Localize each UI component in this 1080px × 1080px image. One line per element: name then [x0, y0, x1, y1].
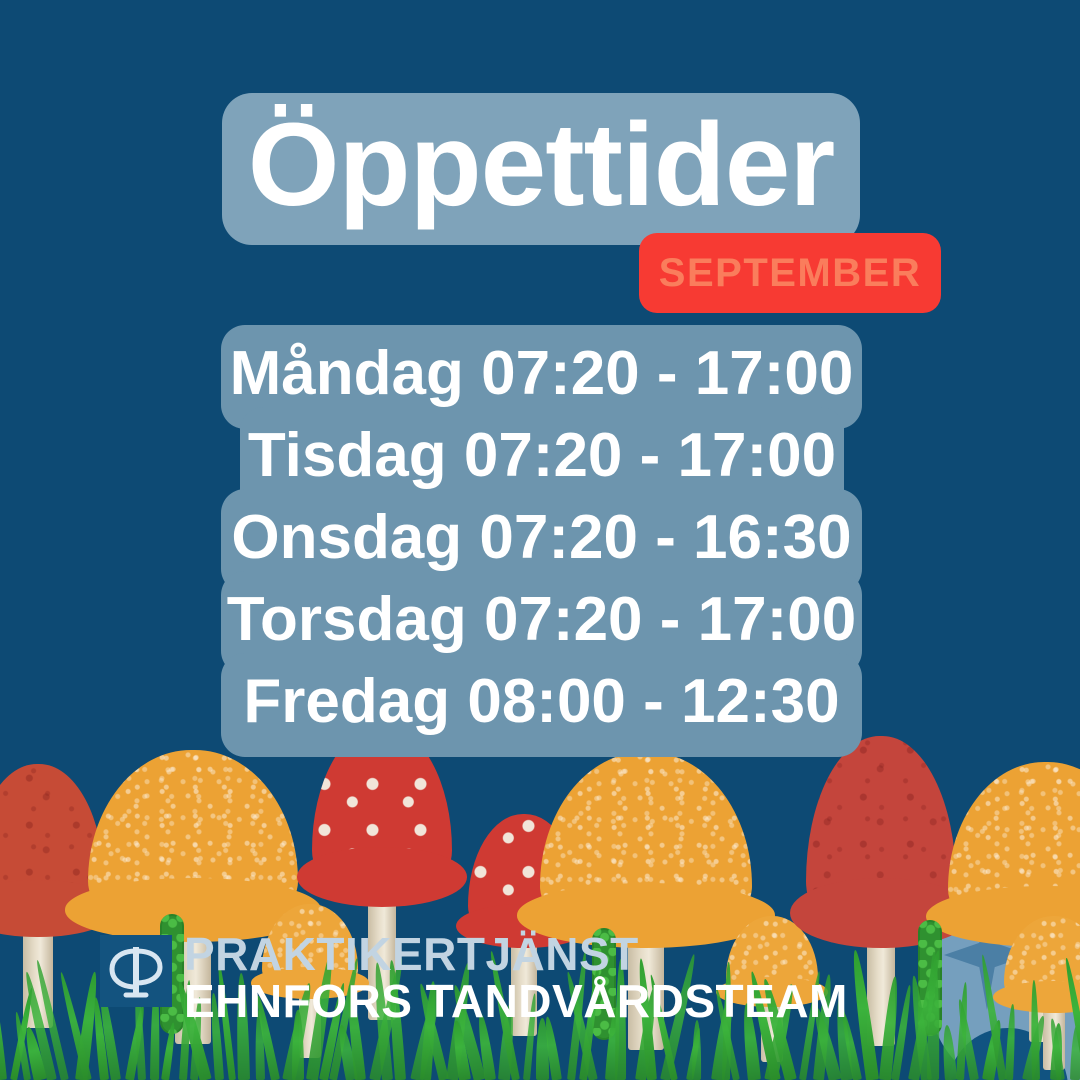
page-title: Öppettider	[248, 106, 835, 224]
month-badge: SEPTEMBER	[639, 233, 941, 313]
hours-row-text: Fredag 08:00 - 12:30	[243, 671, 839, 733]
mushroom-cap-speckle	[540, 752, 752, 942]
grass-blade	[1005, 1004, 1016, 1080]
grass-blade	[161, 1022, 177, 1080]
hours-row-text: Måndag 07:20 - 17:00	[230, 343, 854, 405]
logo-clinic-name: EHNFORS TANDVÅRDSTEAM	[184, 977, 848, 1025]
title-panel: Öppettider	[222, 93, 860, 245]
opening-hours-panel: Måndag 07:20 - 17:00 Tisdag 07:20 - 17:0…	[0, 325, 1080, 765]
grass-blade	[692, 1020, 702, 1080]
brand-logo: PRAKTIKERTJÄNST EHNFORS TANDVÅRDSTEAM	[100, 933, 848, 1025]
poster-canvas: Öppettider SEPTEMBER Måndag 07:20 - 17:0…	[0, 0, 1080, 1080]
logo-wordmark: PRAKTIKERTJÄNST EHNFORS TANDVÅRDSTEAM	[184, 933, 848, 1025]
grass-blade	[1029, 980, 1039, 1080]
grass-blade	[0, 980, 7, 1080]
praktikertjanst-p-monogram-icon	[100, 935, 172, 1007]
hours-row: Fredag 08:00 - 12:30	[221, 653, 862, 757]
logo-company-name: PRAKTIKERTJÄNST	[184, 933, 848, 977]
mushroom-cap-speckle	[948, 762, 1080, 942]
grass-blade	[927, 952, 940, 1080]
mushroom-cap	[948, 762, 1080, 942]
grass-blade	[940, 1024, 956, 1080]
month-badge-label: SEPTEMBER	[659, 253, 921, 293]
hours-row-text: Onsdag 07:20 - 16:30	[231, 507, 851, 569]
hours-row-text: Tisdag 07:20 - 17:00	[248, 425, 836, 487]
mushroom-cap	[540, 752, 752, 942]
hours-row-text: Torsdag 07:20 - 17:00	[227, 589, 856, 651]
